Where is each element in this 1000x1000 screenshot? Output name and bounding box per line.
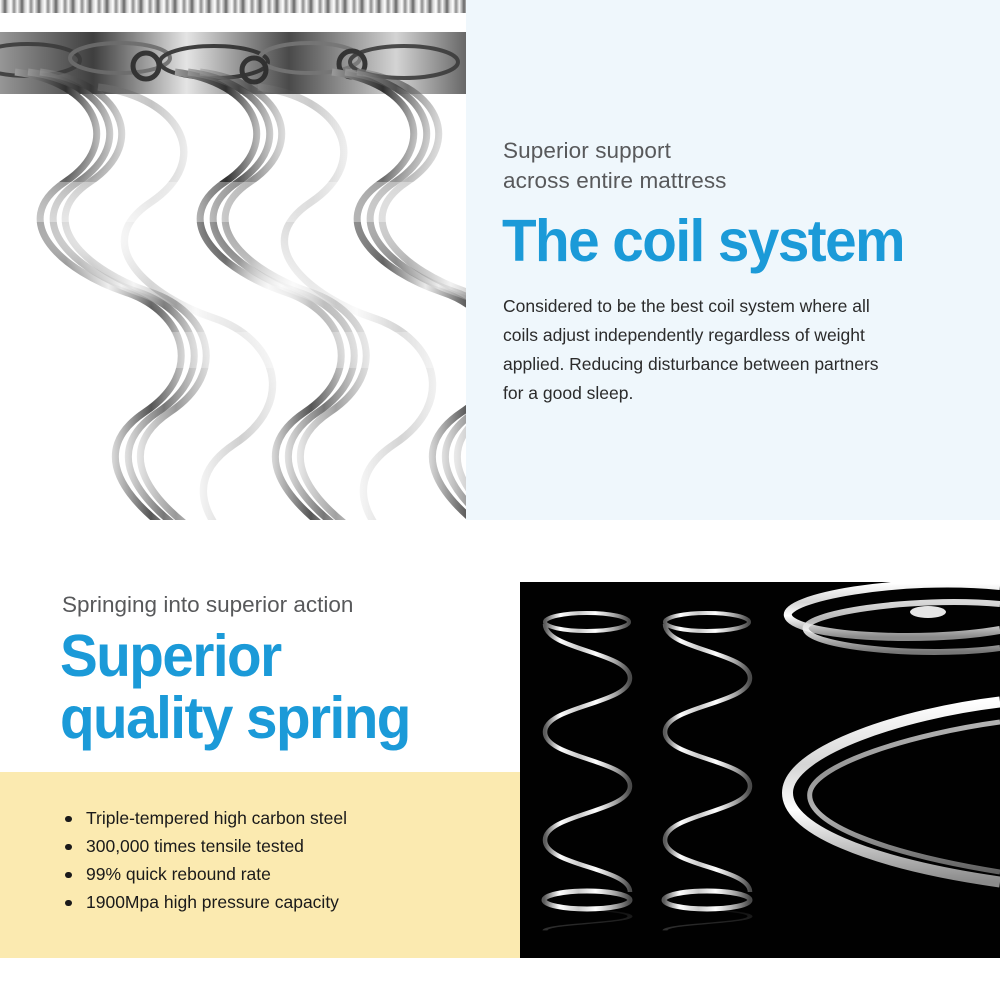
list-item: 99% quick rebound rate: [62, 862, 492, 888]
spring-specs-panel: Triple-tempered high carbon steel 300,00…: [0, 772, 520, 958]
coil-system-copy-panel: Superior support across entire mattress …: [466, 0, 1000, 520]
bullet-dot-icon: [65, 844, 72, 851]
quality-spring-heading: Superior quality spring: [60, 625, 511, 749]
coil-wave-graphic: [0, 32, 466, 520]
coil-system-eyebrow: Superior support across entire mattress: [503, 136, 963, 196]
list-item-label: 99% quick rebound rate: [86, 864, 271, 884]
list-item-label: 300,000 times tensile tested: [86, 836, 304, 856]
list-item: Triple-tempered high carbon steel: [62, 806, 492, 832]
coil-system-heading: The coil system: [502, 208, 963, 274]
spring-specs-list: Triple-tempered high carbon steel 300,00…: [62, 806, 492, 918]
coil-system-paragraph: Considered to be the best coil system wh…: [503, 292, 903, 408]
list-item: 300,000 times tensile tested: [62, 834, 492, 860]
quality-spring-heading-line1: Superior: [60, 625, 511, 687]
bullet-dot-icon: [65, 872, 72, 879]
quality-spring-eyebrow: Springing into superior action: [62, 590, 502, 620]
product-feature-page: Superior support across entire mattress …: [0, 0, 1000, 1000]
coil-system-section: Superior support across entire mattress …: [0, 0, 1000, 520]
list-item-label: Triple-tempered high carbon steel: [86, 808, 347, 828]
bullet-dot-icon: [65, 900, 72, 907]
coil-system-eyebrow-line1: Superior support: [503, 136, 963, 166]
coil-photo-body: [0, 32, 466, 520]
coil-springs-photo: [0, 0, 466, 520]
list-item-label: 1900Mpa high pressure capacity: [86, 892, 339, 912]
coil-photo-white-gap: [0, 13, 466, 32]
coil-system-eyebrow-line2: across entire mattress: [503, 166, 963, 196]
quality-spring-section: Springing into superior action Superior …: [0, 520, 1000, 1000]
coil-photo-top-strip: [0, 0, 466, 13]
bullet-dot-icon: [65, 816, 72, 823]
silver-springs-photo: [520, 582, 1000, 958]
quality-spring-heading-line2: quality spring: [60, 687, 511, 749]
list-item: 1900Mpa high pressure capacity: [62, 890, 492, 916]
